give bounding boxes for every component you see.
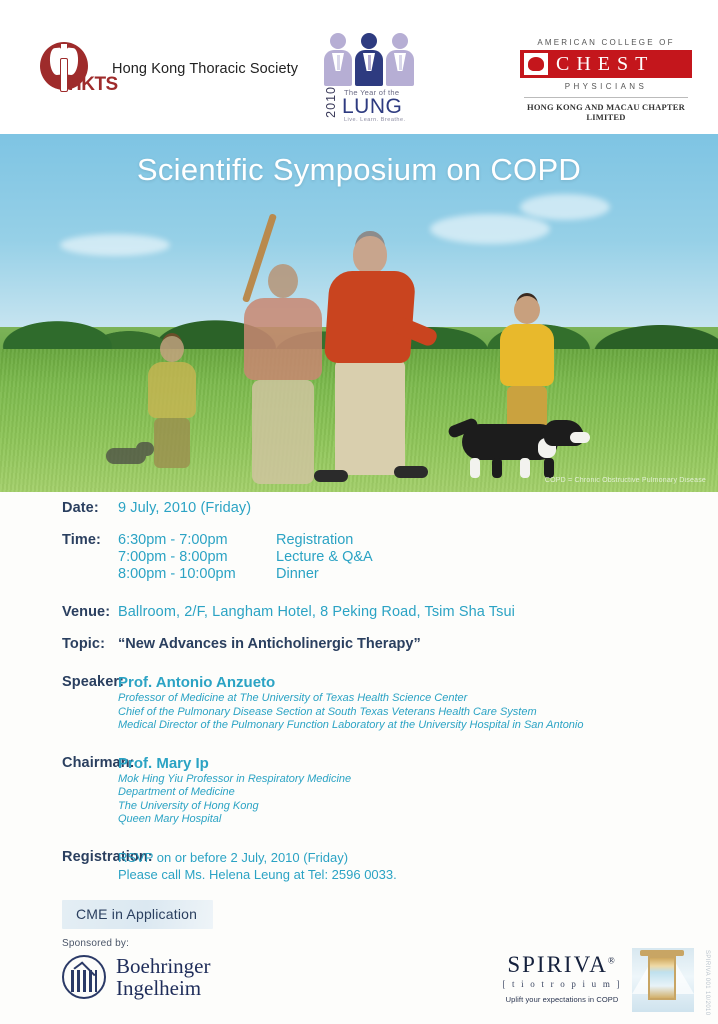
lung-circle-icon: HKTS (38, 40, 94, 98)
accp-chest-word: CHEST (553, 53, 654, 76)
border-collie-figure (452, 416, 582, 478)
accp-physicians-line: PHYSICIANS (520, 82, 692, 91)
registration-line: Please call Ms. Helena Leung at Tel: 259… (118, 866, 397, 883)
time-slot: 7:00pm - 8:00pm Lecture & Q&A (118, 549, 373, 565)
spiriva-tagline: Uplift your expectations in COPD (498, 995, 626, 1004)
detail-row-date: Date: 9 July, 2010 (Friday) (0, 500, 718, 516)
small-dog-figure (100, 440, 154, 474)
photo-caption: COPD = Chronic Obstructive Pulmonary Dis… (545, 477, 706, 484)
page-title: Scientific Symposium on COPD (0, 152, 718, 188)
cloud (430, 214, 550, 244)
hero-photo: Scientific Symposium on COPD COPD = Chro… (0, 134, 718, 492)
year-of-the-lung-logo: 2010 The Year of the LUNG Live. Learn. B… (322, 30, 422, 122)
lungs-box-icon (524, 53, 548, 75)
detail-row-chairman: Chairman: Prof. Mary Ip Mok Hing Yiu Pro… (0, 755, 718, 827)
accp-chapter-line: HONG KONG AND MACAU CHAPTER LIMITED (520, 102, 692, 122)
detail-row-venue: Venue: Ballroom, 2/F, Langham Hotel, 8 P… (0, 604, 718, 620)
spiriva-generic: [ t i o t r o p i u m ] (498, 979, 626, 989)
time-slot: 6:30pm - 7:00pm Registration (118, 532, 373, 548)
time-span: 6:30pm - 7:00pm (118, 532, 276, 548)
yotl-year: 2010 (324, 86, 338, 118)
divider (524, 97, 688, 98)
chairman-affiliation: Queen Mary Hospital (118, 813, 351, 827)
yotl-lung-word: LUNG (342, 95, 402, 119)
header-logo-bar: HKTS Hong Kong Thoracic Society 2010 The… (0, 0, 718, 134)
accp-logo: AMERICAN COLLEGE OF CHEST PHYSICIANS HON… (520, 38, 692, 122)
boehringer-mark-icon (62, 955, 106, 999)
registration-line: RSVP on or before 2 July, 2010 (Friday) (118, 849, 397, 866)
detail-row-time: Time: 6:30pm - 7:00pm Registration 7:00p… (0, 532, 718, 582)
time-label: Time: (0, 532, 118, 582)
inhaler-product-icon (632, 948, 694, 1012)
boehringer-ingelheim-logo: Boehringer Ingelheim (62, 955, 210, 999)
adult-figure-foreground (310, 236, 430, 476)
spiriva-code: SPIRIVA 001 10/2010 (704, 950, 710, 1016)
cloud (520, 194, 610, 220)
spiriva-name: SPIRIVA (507, 952, 608, 977)
speaker-affiliation: Professor of Medicine at The University … (118, 692, 584, 706)
time-activity: Lecture & Q&A (276, 549, 373, 565)
venue-value: Ballroom, 2/F, Langham Hotel, 8 Peking R… (118, 604, 515, 620)
speaker-name: Prof. Antonio Anzueto (118, 674, 584, 691)
cloud (60, 234, 170, 256)
date-label: Date: (0, 500, 118, 516)
speaker-affiliation: Chief of the Pulmonary Disease Section a… (118, 706, 584, 720)
venue-label: Venue: (0, 604, 118, 620)
detail-row-speaker: Speaker: Prof. Antonio Anzueto Professor… (0, 674, 718, 733)
chairman-affiliation: The University of Hong Kong (118, 800, 351, 814)
registered-mark-icon: ® (608, 955, 617, 965)
sponsored-by-label: Sponsored by: (62, 938, 129, 949)
spiriva-logo: SPIRIVA® [ t i o t r o p i u m ] Uplift … (490, 946, 712, 1018)
registration-label: Registration: (0, 849, 118, 883)
topic-label: Topic: (0, 636, 118, 652)
accp-top-line: AMERICAN COLLEGE OF (520, 38, 692, 47)
speaker-affiliation: Medical Director of the Pulmonary Functi… (118, 719, 584, 733)
chairman-label: Chairman: (0, 755, 118, 827)
time-activity: Dinner (276, 566, 319, 582)
time-span: 8:00pm - 10:00pm (118, 566, 276, 582)
hkts-society-name: Hong Kong Thoracic Society (112, 61, 298, 77)
date-value: 9 July, 2010 (Friday) (118, 500, 251, 516)
time-span: 7:00pm - 8:00pm (118, 549, 276, 565)
detail-row-registration: Registration: RSVP on or before 2 July, … (0, 849, 718, 883)
child-figure-yellow (492, 296, 562, 436)
flyer-page: HKTS Hong Kong Thoracic Society 2010 The… (0, 0, 718, 1024)
event-details: Date: 9 July, 2010 (Friday) Time: 6:30pm… (0, 500, 718, 887)
detail-row-topic: Topic: “New Advances in Anticholinergic … (0, 636, 718, 652)
chairman-affiliation: Mok Hing Yiu Professor in Respiratory Me… (118, 773, 351, 787)
chairman-affiliation: Department of Medicine (118, 786, 351, 800)
hkts-logo: HKTS Hong Kong Thoracic Society (38, 40, 298, 98)
topic-value: “New Advances in Anticholinergic Therapy… (118, 636, 421, 652)
cme-badge: CME in Application (62, 900, 213, 929)
chairman-name: Prof. Mary Ip (118, 755, 351, 772)
time-activity: Registration (276, 532, 353, 548)
three-people-icon (322, 30, 422, 86)
yotl-tagline: Live. Learn. Breathe. (344, 117, 406, 123)
boehringer-line1: Boehringer (116, 955, 210, 977)
hkts-abbr: HKTS (68, 74, 118, 96)
time-slot: 8:00pm - 10:00pm Dinner (118, 566, 373, 582)
speaker-label: Speaker: (0, 674, 118, 733)
boehringer-line2: Ingelheim (116, 977, 210, 999)
